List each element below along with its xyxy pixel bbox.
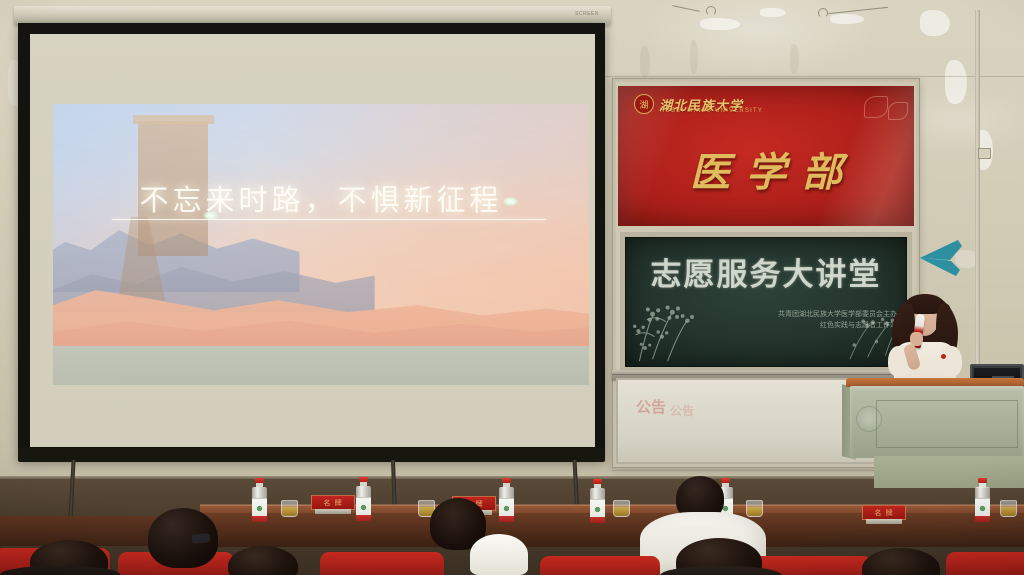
chalk-flower-drawing-icon <box>629 269 725 363</box>
foreground-attendee-shoulders <box>0 566 120 575</box>
slide-underline <box>112 219 547 220</box>
bottle-base-band <box>590 517 605 523</box>
banner-main-text: 医学部 <box>618 140 914 198</box>
chalkboard: 志愿服务大讲堂 共青团湖北民族大学医学部委员会主办 红色实践与志愿者工作站 <box>620 232 912 372</box>
whiteboard-residual-text: 公告 <box>636 396 666 417</box>
tea-glass[interactable] <box>613 500 630 517</box>
red-department-banner: 湖 湖北民族大学 HUBEI MINZU UNIVERSITY 医学部 <box>618 86 914 226</box>
name-plaque: 名 牌 <box>862 505 906 524</box>
bottle-label <box>356 497 371 516</box>
bottle-base-band <box>252 516 267 522</box>
tea-glass[interactable] <box>281 500 298 517</box>
plaque-card: 名 牌 <box>311 495 355 510</box>
projected-slide: 不忘来时路，不惧新征程 <box>53 104 590 385</box>
paint-fleck <box>790 44 799 74</box>
bottle-base-band <box>975 516 990 522</box>
bottle-cap <box>359 477 368 482</box>
paint-fleck <box>945 60 967 104</box>
screen-surface: 不忘来时路，不惧新征程 <box>30 34 595 447</box>
auditorium-chair[interactable] <box>540 556 660 575</box>
name-plaque: 名 牌 <box>311 495 355 514</box>
wall-switch[interactable] <box>978 148 991 159</box>
roller-brand-label: SCREEN <box>575 11 599 17</box>
plaque-card: 名 牌 <box>862 505 906 520</box>
wall-seam <box>600 76 1024 77</box>
bottle-label <box>252 498 267 517</box>
screen-weight-bar <box>18 448 605 462</box>
banner-university-name-en: HUBEI MINZU UNIVERSITY <box>660 108 763 114</box>
podium-panel <box>876 400 1018 448</box>
projection-light-wash <box>53 104 590 385</box>
bottle-cap <box>502 478 511 483</box>
eyeglasses-icon <box>192 533 211 544</box>
glass-tea-liquid <box>614 507 629 516</box>
bottle-label <box>975 498 990 517</box>
paper-airplane-icon <box>918 236 968 282</box>
bottle-base-band <box>356 515 371 521</box>
glass-tea-liquid <box>282 507 297 516</box>
lecture-hall-scene: SCREEN 不忘来时路，不惧新征程 <box>0 0 1024 575</box>
bottle-base-band <box>499 516 514 522</box>
speaker-hand <box>910 332 923 346</box>
plaque-text: 名 牌 <box>874 508 893 518</box>
auditorium-chair[interactable] <box>320 552 444 575</box>
projector-screen: 不忘来时路，不惧新征程 <box>18 23 605 460</box>
water-bottle[interactable] <box>252 478 267 522</box>
lectern-podium <box>846 378 1024 488</box>
tea-glass[interactable] <box>1000 500 1017 517</box>
cable-hook <box>706 6 716 16</box>
water-bottle[interactable] <box>975 478 990 522</box>
whiteboard-residual-text: 公告 <box>670 402 694 419</box>
water-bottle[interactable] <box>356 477 371 521</box>
foreground-attendee-white-cap <box>470 534 528 575</box>
paint-fleck <box>830 14 864 24</box>
bottle-label <box>590 499 605 518</box>
plaque-text: 名 牌 <box>323 498 342 508</box>
banner-motif <box>864 96 888 118</box>
paint-fleck <box>760 8 786 17</box>
tray-ridge <box>612 374 920 375</box>
projector-glare <box>203 211 218 220</box>
glass-tea-liquid <box>1001 507 1016 516</box>
plaque-stand <box>315 509 351 514</box>
paint-fleck <box>920 10 950 36</box>
bottle-label <box>499 498 514 517</box>
speaker-sleeve-right <box>942 346 962 376</box>
bottle-cap <box>978 478 987 483</box>
water-bottle[interactable] <box>499 478 514 522</box>
paint-fleck <box>640 46 650 78</box>
podium-body <box>850 386 1024 458</box>
bottle-cap <box>593 479 602 484</box>
paint-fleck <box>700 18 740 30</box>
podium-base <box>874 456 1024 488</box>
water-bottle[interactable] <box>590 479 605 523</box>
university-seal-icon: 湖 <box>634 94 654 114</box>
paint-fleck <box>690 40 698 74</box>
foreground-attendee-with-glasses <box>148 508 218 575</box>
banner-motif <box>888 102 908 120</box>
speaker-badge <box>941 354 946 359</box>
plaque-stand <box>866 519 902 524</box>
auditorium-chair[interactable] <box>946 552 1024 575</box>
bottle-cap <box>255 478 264 483</box>
cable-hook <box>818 8 828 18</box>
